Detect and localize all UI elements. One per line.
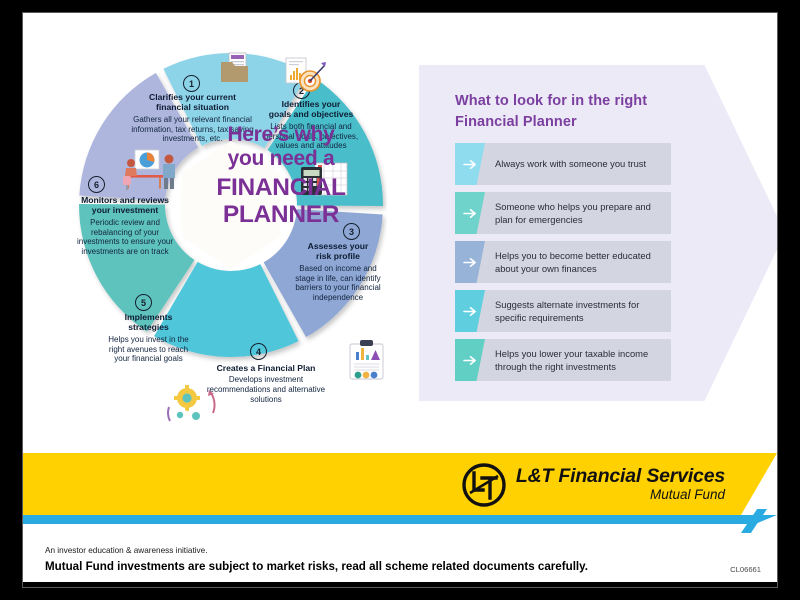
blue-rule [23, 515, 778, 524]
arrow-right-icon [463, 305, 478, 318]
arrow-tab [455, 143, 485, 185]
disclaimer-line1: An investor education & awareness initia… [45, 546, 207, 555]
slide-canvas: What to look for in the right Financial … [22, 12, 778, 588]
lt-logo-icon [461, 462, 507, 508]
arrow-right-icon [463, 354, 478, 367]
right-panel-item[interactable]: Helps you to become better educated abou… [455, 241, 671, 283]
arrow-right-icon [463, 256, 478, 269]
brand-subtitle: Mutual Fund [650, 487, 725, 504]
disclaimer-code: CL06661 [730, 565, 761, 574]
right-panel-title-line2: Financial Planner [455, 112, 695, 133]
center-hexagon [182, 141, 280, 269]
right-panel-title: What to look for in the right Financial … [455, 91, 695, 133]
right-panel-title-line1: What to look for in the right [455, 91, 695, 112]
team-presentation-icon [109, 149, 183, 193]
arrow-right-icon [463, 158, 478, 171]
folder-document-icon [215, 51, 255, 85]
disclaimer-line2: Mutual Fund investments are subject to m… [45, 560, 588, 573]
bottom-bar [23, 582, 778, 588]
target-report-icon [283, 57, 329, 95]
right-panel-item-text: Suggests alternate investments for speci… [485, 298, 671, 325]
right-panel-item[interactable]: Always work with someone you trust [455, 143, 671, 185]
arrow-tab [455, 241, 485, 283]
wheel-svg [75, 45, 387, 445]
right-panel-item-text: Helps you to become better educated abou… [485, 249, 671, 276]
right-panel-item-text: Always work with someone you trust [485, 157, 652, 170]
right-panel-item-text: Someone who helps you prepare and plan f… [485, 200, 671, 227]
arrow-tab [455, 339, 485, 381]
segment-number-4: 4 [250, 343, 267, 360]
calculator-spreadsheet-icon [299, 161, 351, 201]
segment-number-3: 3 [343, 223, 360, 240]
brand-name: L&T Financial Services [516, 466, 725, 486]
arrow-tab [455, 192, 485, 234]
right-panel-item[interactable]: Someone who helps you prepare and plan f… [455, 192, 671, 234]
clipboard-chart-icon [347, 339, 387, 381]
arrow-right-icon [463, 207, 478, 220]
segment-number-6: 6 [88, 176, 105, 193]
gears-icon [163, 385, 225, 433]
financial-planner-wheel: 1 2 3 4 5 6 Clarifies your current finan… [75, 45, 387, 445]
brand-text: L&T Financial Services Mutual Fund [516, 466, 725, 504]
segment-number-1: 1 [183, 75, 200, 92]
right-panel-item[interactable]: Helps you lower your taxable income thro… [455, 339, 671, 381]
right-panel-item-text: Helps you lower your taxable income thro… [485, 347, 671, 374]
brand-lockup: L&T Financial Services Mutual Fund [461, 462, 725, 508]
right-panel-item[interactable]: Suggests alternate investments for speci… [455, 290, 671, 332]
segment-number-5: 5 [135, 294, 152, 311]
arrow-tab [455, 290, 485, 332]
